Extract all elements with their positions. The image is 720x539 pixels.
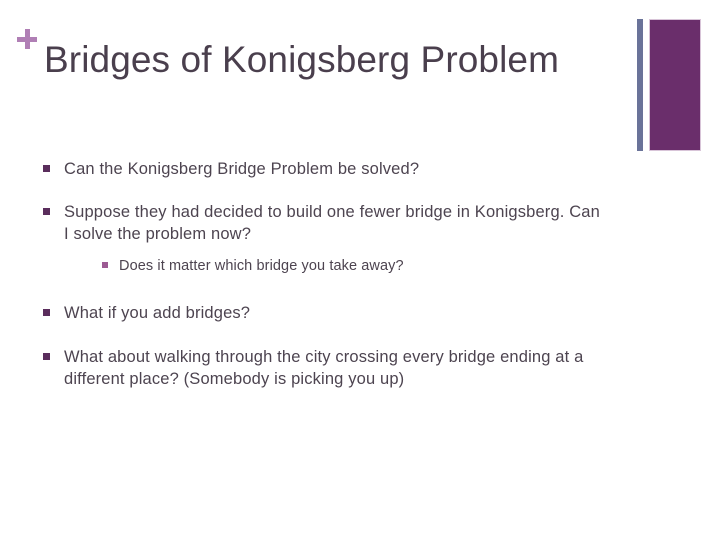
- sub-bullet-square-icon: [102, 262, 108, 268]
- plus-icon: [17, 29, 37, 49]
- slide-decoration: [633, 19, 705, 151]
- list-item: Can the Konigsberg Bridge Problem be sol…: [40, 158, 606, 180]
- bullet-square-icon: [43, 309, 50, 316]
- bullet-square-icon: [43, 208, 50, 215]
- sub-list-item-text: Does it matter which bridge you take awa…: [119, 256, 606, 276]
- sub-bullet-list: Does it matter which bridge you take awa…: [100, 256, 606, 276]
- bullet-list: Can the Konigsberg Bridge Problem be sol…: [40, 158, 606, 390]
- list-item-text: What if you add bridges?: [64, 302, 606, 324]
- bullet-square-icon: [43, 165, 50, 172]
- decoration-block: [649, 19, 701, 151]
- bullet-square-icon: [43, 353, 50, 360]
- list-item: What if you add bridges?: [40, 302, 606, 324]
- decoration-stripe: [637, 19, 643, 151]
- list-item: What about walking through the city cros…: [40, 346, 606, 390]
- presentation-slide: Bridges of Konigsberg Problem Can the Ko…: [0, 0, 720, 539]
- list-item-text: What about walking through the city cros…: [64, 346, 606, 390]
- page-title: Bridges of Konigsberg Problem: [44, 38, 614, 82]
- list-item: Suppose they had decided to build one fe…: [40, 201, 606, 276]
- sub-list-item: Does it matter which bridge you take awa…: [100, 256, 606, 276]
- list-item-text: Suppose they had decided to build one fe…: [64, 201, 606, 245]
- list-item-text: Can the Konigsberg Bridge Problem be sol…: [64, 158, 606, 180]
